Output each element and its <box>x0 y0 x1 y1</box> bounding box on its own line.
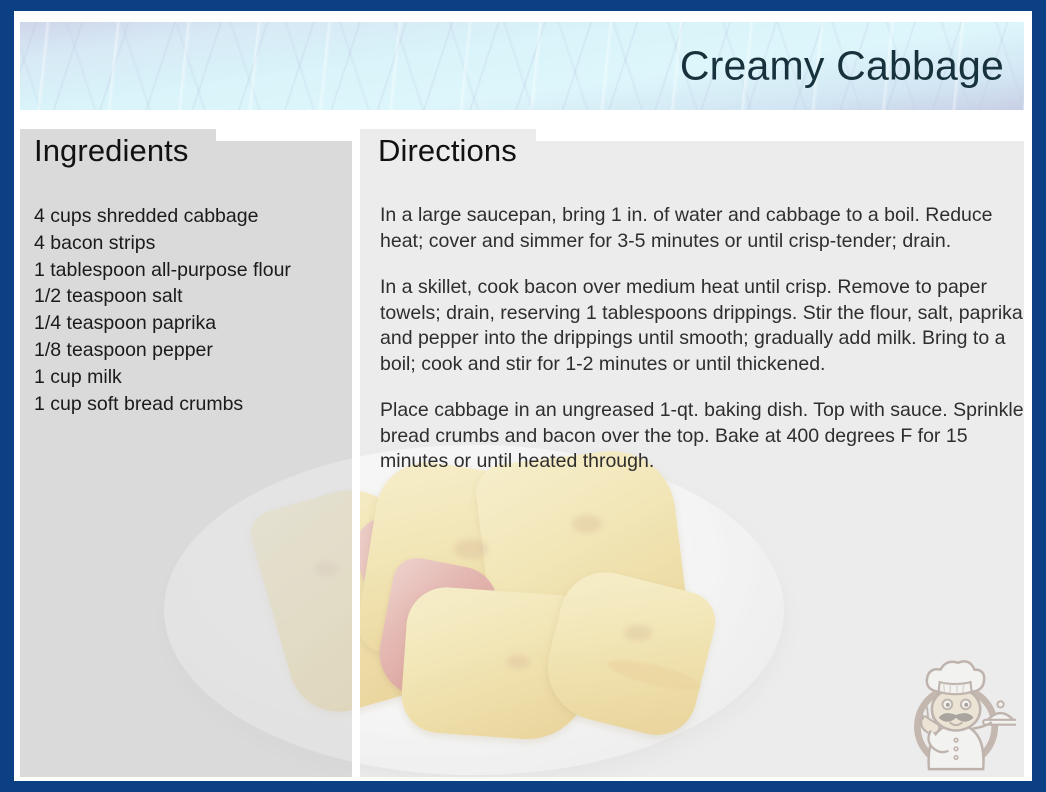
ingredient-item: 1 cup milk <box>34 364 350 391</box>
directions-heading: Directions <box>378 133 517 169</box>
direction-paragraph: Place cabbage in an ungreased 1-qt. baki… <box>380 398 1028 475</box>
recipe-title: Creamy Cabbage <box>680 43 1004 90</box>
ingredient-item: 1 tablespoon all-purpose flour <box>34 257 350 284</box>
directions-body: In a large saucepan, bring 1 in. of wate… <box>380 203 1028 475</box>
ingredients-tab: Ingredients <box>20 129 216 173</box>
ingredient-item: 4 bacon strips <box>34 230 350 257</box>
ingredient-item: 1/4 teaspoon paprika <box>34 310 350 337</box>
panel-divider <box>352 141 360 777</box>
ingredient-item: 1 cup soft bread crumbs <box>34 391 350 418</box>
ingredient-item: 1/2 teaspoon salt <box>34 283 350 310</box>
header-banner: Creamy Cabbage <box>20 22 1024 110</box>
ingredient-item: 1/8 teaspoon pepper <box>34 337 350 364</box>
recipe-card-body: Creamy Cabbage Ingredient <box>14 11 1032 781</box>
direction-paragraph: In a large saucepan, bring 1 in. of wate… <box>380 203 1028 254</box>
ingredients-heading: Ingredients <box>34 133 188 169</box>
directions-tab: Directions <box>360 129 536 173</box>
direction-paragraph: In a skillet, cook bacon over medium hea… <box>380 275 1028 377</box>
ingredients-list: 4 cups shredded cabbage 4 bacon strips 1… <box>34 203 350 417</box>
ingredient-item: 4 cups shredded cabbage <box>34 203 350 230</box>
recipe-card-frame: Creamy Cabbage Ingredient <box>0 0 1046 792</box>
